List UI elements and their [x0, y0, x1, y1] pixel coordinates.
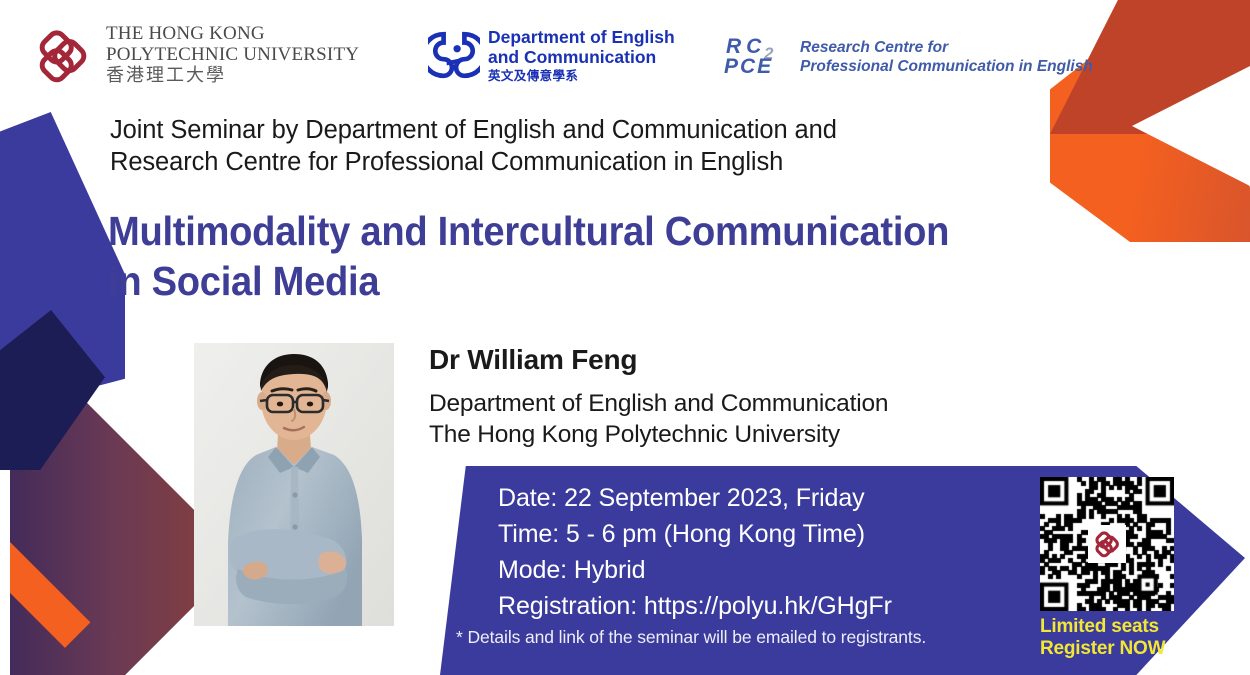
- qr-call-to-action: Limited seats Register NOW: [1040, 616, 1174, 661]
- polyu-logo: THE HONG KONG POLYTECHNIC UNIVERSITY 香港理…: [30, 22, 359, 88]
- dec-wordmark: Department of English and Communication …: [488, 28, 675, 83]
- event-details-list: Date: 22 September 2023, Friday Time: 5 …: [498, 480, 1018, 624]
- rcpce-acronym-icon: RC 2 PCE: [724, 36, 794, 80]
- dec-name-line2: and Communication: [488, 48, 675, 68]
- speaker-details: Dr William Feng Department of English an…: [429, 344, 1009, 451]
- polyu-wordmark: THE HONG KONG POLYTECHNIC UNIVERSITY 香港理…: [106, 24, 359, 85]
- dec-emblem-icon: [428, 29, 480, 81]
- speaker-portrait: [194, 343, 394, 626]
- decorative-orange-stripe-lower: [0, 575, 90, 675]
- qr-cta-line-2: Register NOW: [1040, 638, 1174, 660]
- event-detail-time: Time: 5 - 6 pm (Hong Kong Time): [498, 516, 1018, 552]
- decorative-navy-shape-left: [0, 310, 105, 470]
- subtitle-line-2: Research Centre for Professional Communi…: [110, 146, 1070, 178]
- page-title: Multimodality and Intercultural Communic…: [108, 206, 1001, 306]
- decorative-orange-stripe-upper: [0, 382, 90, 648]
- rcpce-name-line1: Research Centre for: [800, 39, 1093, 58]
- polyu-name-chinese: 香港理工大學: [106, 66, 359, 85]
- speaker-name: Dr William Feng: [429, 344, 1009, 376]
- speaker-affiliation-line-1: Department of English and Communication: [429, 388, 1009, 419]
- rcpce-name-line2: Professional Communication in English: [800, 58, 1093, 77]
- rcpce-wordmark: Research Centre for Professional Communi…: [800, 39, 1093, 76]
- event-detail-mode: Mode: Hybrid: [498, 552, 1018, 588]
- qr-center-polyu-icon: [1088, 525, 1126, 563]
- polyu-name-line1: THE HONG KONG: [106, 24, 359, 45]
- polyu-name-line2: POLYTECHNIC UNIVERSITY: [106, 45, 359, 66]
- logo-header: THE HONG KONG POLYTECHNIC UNIVERSITY 香港理…: [0, 0, 1250, 110]
- subtitle-line-1: Joint Seminar by Department of English a…: [110, 114, 1070, 146]
- event-detail-registration[interactable]: Registration: https://polyu.hk/GHgFr: [498, 588, 1018, 624]
- event-detail-date: Date: 22 September 2023, Friday: [498, 480, 1018, 516]
- title-line-1: Multimodality and Intercultural Communic…: [108, 206, 1001, 256]
- polyu-knot-icon: [30, 22, 96, 88]
- speaker-affiliation: Department of English and Communication …: [429, 388, 1009, 451]
- title-line-2: in Social Media: [108, 256, 1001, 306]
- registration-qr-code[interactable]: [1040, 477, 1174, 611]
- rcpce-acronym-bottom: PCE: [724, 55, 773, 79]
- decorative-mask-left: [0, 470, 10, 675]
- dec-name-chinese: 英文及傳意學系: [488, 69, 675, 83]
- seminar-subtitle: Joint Seminar by Department of English a…: [110, 114, 1070, 179]
- event-details-footnote: * Details and link of the seminar will b…: [456, 627, 926, 648]
- dec-name-line1: Department of English: [488, 28, 675, 48]
- qr-cta-line-1: Limited seats: [1040, 616, 1174, 638]
- seminar-poster: THE HONG KONG POLYTECHNIC UNIVERSITY 香港理…: [0, 0, 1250, 675]
- department-of-english-and-communication-logo: Department of English and Communication …: [428, 28, 675, 83]
- registration-qr-block[interactable]: Limited seats Register NOW: [1040, 477, 1174, 661]
- decorative-blue-chevron-left: [0, 112, 125, 402]
- research-centre-logo: RC 2 PCE Research Centre for Professiona…: [724, 36, 1093, 80]
- speaker-affiliation-line-2: The Hong Kong Polytechnic University: [429, 419, 1009, 450]
